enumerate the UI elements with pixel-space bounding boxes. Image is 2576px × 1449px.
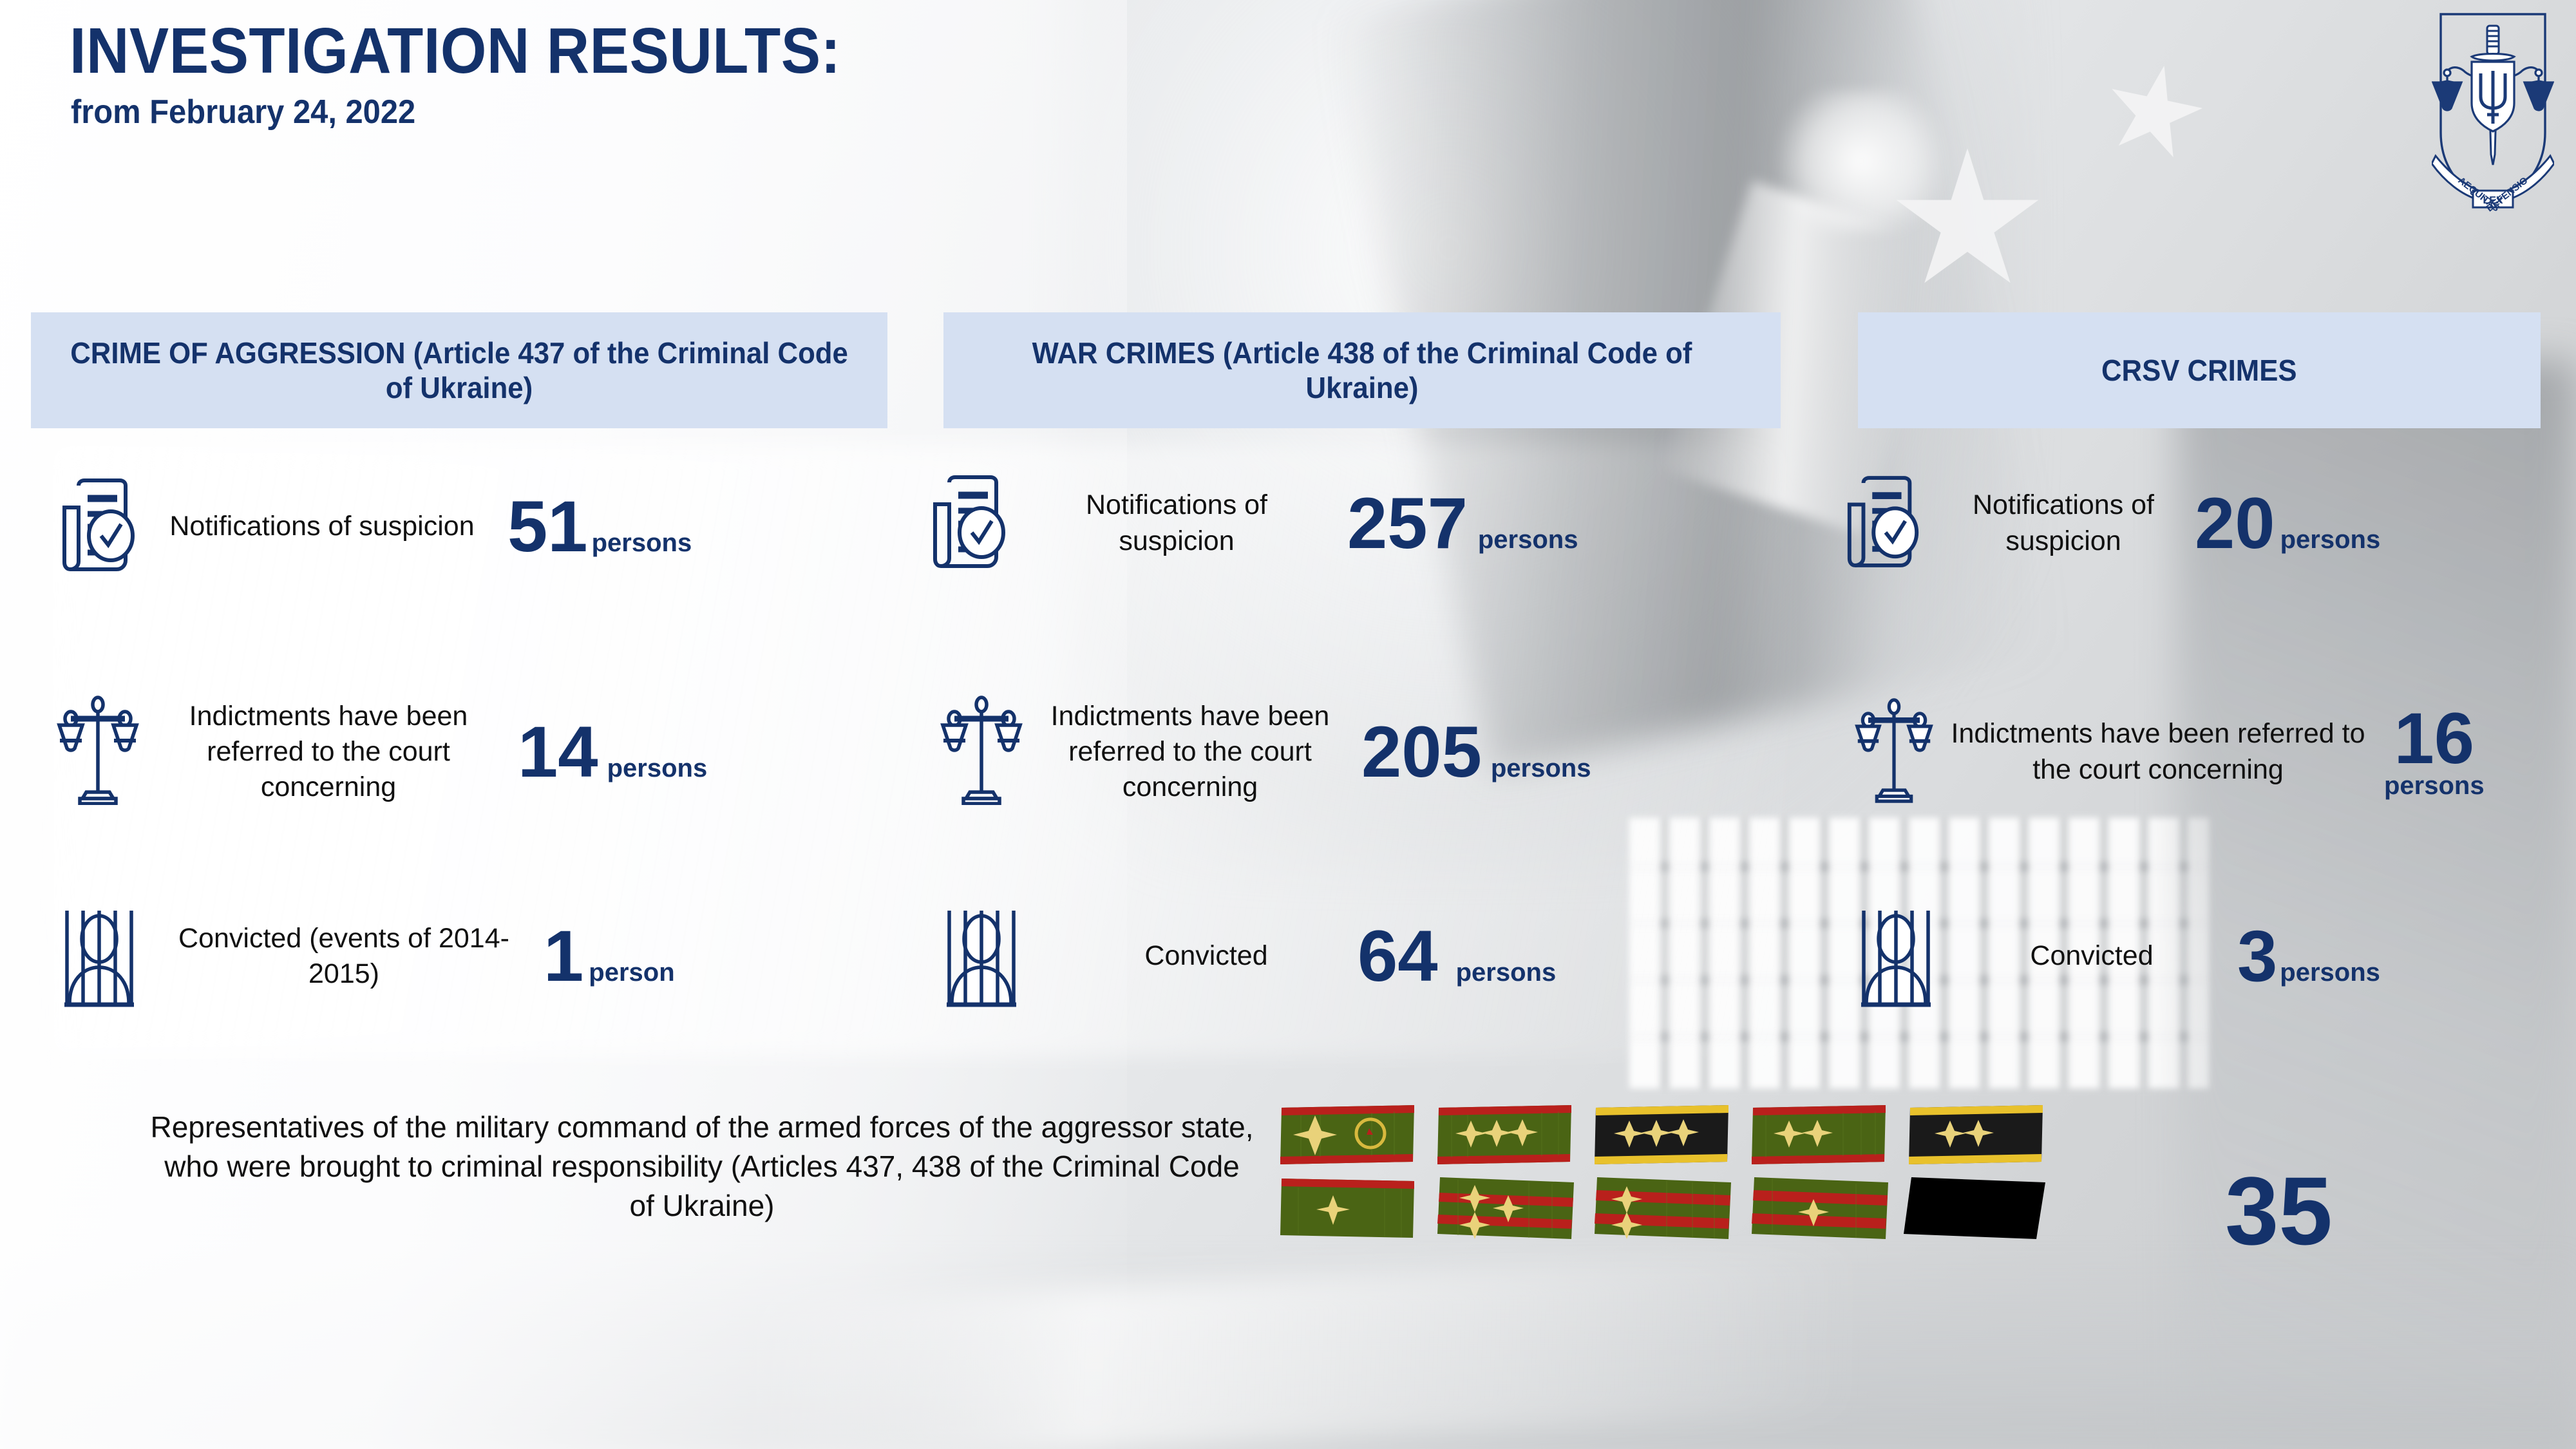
stat-unit: persons bbox=[1456, 960, 1557, 985]
stat-label: Indictments have been referred to the co… bbox=[1936, 716, 2380, 787]
background-star bbox=[1893, 148, 2041, 296]
prisoner-behind-bars-icon bbox=[940, 902, 1023, 1011]
stat-unit: persons bbox=[2384, 773, 2485, 799]
stat-label: Indictments have been referred to the co… bbox=[148, 699, 509, 805]
stat-value: 20 bbox=[2195, 490, 2275, 556]
document-check-icon bbox=[1842, 473, 1924, 573]
scales-of-justice-icon bbox=[1855, 696, 1933, 808]
stat-label: Notifications of suspicion bbox=[1025, 488, 1328, 558]
epaulette-black-2star bbox=[1904, 1103, 2047, 1167]
column-header-war-crimes: WAR CRIMES (Article 438 of the Criminal … bbox=[943, 312, 1781, 428]
epaulette-lieutenant-general-2star bbox=[1747, 1103, 1889, 1167]
epaulette-major-1star-stripes bbox=[1747, 1176, 1889, 1240]
epaulette-black-3star bbox=[1589, 1103, 1732, 1167]
stat-value: 1 bbox=[544, 923, 583, 989]
summary-value: 35 bbox=[2225, 1162, 2333, 1259]
prisoner-behind-bars-icon bbox=[58, 902, 140, 1011]
stat-value: 205 bbox=[1361, 719, 1482, 785]
stat-unit: persons bbox=[1491, 755, 1591, 781]
epaulette-marshal-star-emblem bbox=[1275, 1103, 1418, 1167]
stat-label: Indictments have been referred to the co… bbox=[1029, 699, 1351, 805]
emblem-motto-center: LEX bbox=[2483, 195, 2503, 206]
background-wreath bbox=[1765, 90, 1958, 232]
stat-unit: persons bbox=[2280, 960, 2380, 985]
prisoner-behind-bars-icon bbox=[1855, 902, 1937, 1011]
infographic-poster: INVESTIGATION RESULTS: from February 24,… bbox=[0, 0, 2576, 1449]
stat-value: 257 bbox=[1347, 490, 1468, 556]
stat-label: Notifications of suspicion bbox=[1935, 488, 2192, 558]
stat-cell: Convicted 3 persons bbox=[1855, 902, 2576, 1011]
stat-cell: Convicted 64 persons bbox=[940, 902, 1842, 1011]
page-subtitle: from February 24, 2022 bbox=[71, 93, 858, 131]
background-bottom-fade bbox=[0, 1249, 2576, 1449]
scales-of-justice-icon bbox=[57, 696, 139, 808]
stat-unit: persons bbox=[1478, 527, 1578, 553]
stat-value: 3 bbox=[2237, 923, 2277, 989]
stat-label: Notifications of suspicion bbox=[155, 509, 489, 544]
stat-cell: Convicted (events of 2014-2015) 1 person bbox=[58, 902, 960, 1011]
column-header-crime-of-aggression: CRIME OF AGGRESSION (Article 437 of the … bbox=[31, 312, 887, 428]
stat-cell: Notifications of suspicion 20 persons bbox=[1842, 473, 2576, 573]
stat-value: 64 bbox=[1358, 923, 1438, 989]
epaulette-plain-black bbox=[1904, 1176, 2047, 1240]
stat-value: 14 bbox=[518, 719, 598, 785]
epaulette-colonel-general-3star bbox=[1432, 1103, 1575, 1167]
column-header-label: WAR CRIMES (Article 438 of the Criminal … bbox=[973, 336, 1751, 406]
poster-header: INVESTIGATION RESULTS: from February 24,… bbox=[70, 18, 908, 131]
stat-unit: person bbox=[589, 960, 674, 985]
column-header-label: CRSV CRIMES bbox=[2101, 353, 2297, 388]
prosecutor-emblem-icon: AEQUITAS DEFENSIO LEX bbox=[2432, 6, 2554, 213]
stat-cell: Notifications of suspicion 257 persons bbox=[927, 473, 1829, 573]
background-star bbox=[2097, 55, 2211, 170]
document-check-icon bbox=[57, 477, 140, 576]
epaulette-colonel-3star-stripes bbox=[1432, 1176, 1575, 1240]
stat-value: 51 bbox=[507, 493, 588, 560]
insignia-row-2 bbox=[1275, 1176, 2047, 1240]
stat-cell: Indictments have been referred to the co… bbox=[1855, 696, 2576, 808]
epaulette-major-general-1star bbox=[1275, 1176, 1418, 1240]
background-desk-highlight bbox=[756, 1247, 1858, 1449]
military-rank-insignia-group bbox=[1275, 1103, 2047, 1249]
stat-cell: Notifications of suspicion 51 persons bbox=[57, 477, 958, 576]
page-title: INVESTIGATION RESULTS: bbox=[70, 18, 841, 84]
stat-unit: persons bbox=[607, 755, 708, 781]
epaulette-lt-colonel-2star-stripes bbox=[1589, 1176, 1732, 1240]
stat-unit: persons bbox=[592, 530, 692, 556]
stat-cell: Indictments have been referred to the co… bbox=[940, 696, 1842, 808]
stat-label: Convicted (events of 2014-2015) bbox=[151, 921, 537, 992]
summary-text: Representatives of the military command … bbox=[148, 1108, 1256, 1226]
document-check-icon bbox=[927, 473, 1011, 573]
column-header-label: CRIME OF AGGRESSION (Article 437 of the … bbox=[61, 336, 858, 406]
stat-unit: persons bbox=[2280, 527, 2381, 553]
stat-label: Convicted bbox=[1956, 938, 2227, 974]
column-header-crsv-crimes: CRSV CRIMES bbox=[1858, 312, 2541, 428]
stat-cell: Indictments have been referred to the co… bbox=[57, 696, 958, 808]
stat-value: 16 bbox=[2394, 705, 2475, 772]
stat-label: Convicted bbox=[1061, 938, 1351, 974]
scales-of-justice-icon bbox=[940, 696, 1023, 808]
insignia-row-1 bbox=[1275, 1103, 2047, 1167]
